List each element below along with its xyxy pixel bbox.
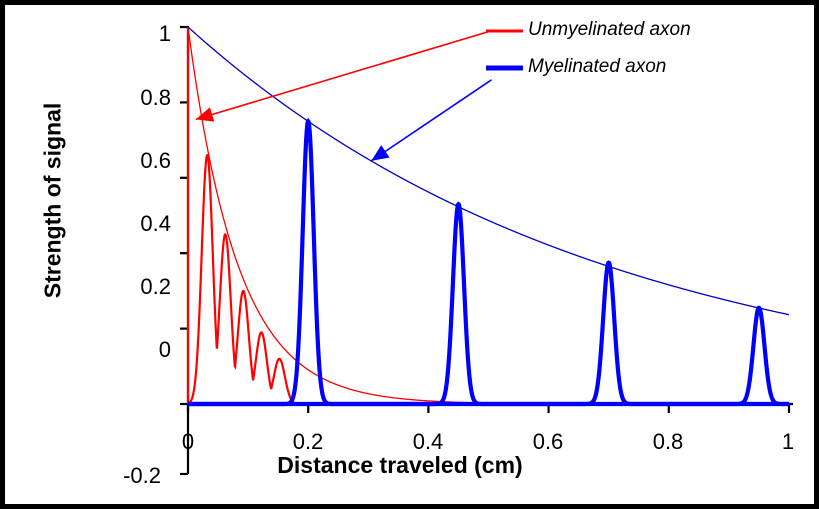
- axis-lines: [180, 26, 793, 474]
- y-tick-label-0p4: 0.4: [111, 211, 171, 237]
- series-myelinated-axon: [188, 27, 789, 404]
- x-tick-label-0p4: 0.4: [398, 429, 458, 455]
- y-tick-label-neg0p2: -0.2: [101, 463, 161, 489]
- x-tick-label-0p8: 0.8: [638, 429, 698, 455]
- chart-canvas: Strength of signal Distance traveled (cm…: [5, 5, 814, 504]
- y-tick-label-0: 0: [111, 337, 171, 363]
- y-tick-label-1: 1: [111, 21, 171, 47]
- myelinated-callout-arrow-head: [371, 145, 389, 161]
- series-unmyelinated-axon: [188, 27, 789, 404]
- myelinated-callout-arrow-line: [371, 80, 491, 161]
- y-tick-label-0p2: 0.2: [111, 274, 171, 300]
- unmyelinated-spike-train: [188, 155, 789, 404]
- legend-label-myelinated: Myelinated axon: [528, 56, 666, 78]
- legend-label-unmyelinated: Unmyelinated axon: [528, 19, 691, 41]
- y-tick-label-0p6: 0.6: [111, 148, 171, 174]
- unmyelinated-callout-arrow-line: [196, 31, 492, 120]
- legend-swatches: [486, 31, 523, 68]
- chart-figure: Strength of signal Distance traveled (cm…: [0, 0, 819, 509]
- callout-arrows: [196, 31, 492, 161]
- x-axis-title: Distance traveled (cm): [190, 452, 610, 479]
- y-tick-label-0p8: 0.8: [111, 85, 171, 111]
- unmyelinated-envelope-curve: [188, 27, 789, 404]
- x-tick-label-0: 0: [158, 429, 218, 455]
- y-axis-title: Strength of signal: [40, 101, 67, 301]
- unmyelinated-callout-arrow-head: [196, 107, 214, 121]
- x-tick-label-1: 1: [758, 429, 818, 455]
- x-tick-label-0p6: 0.6: [518, 429, 578, 455]
- x-tick-label-0p2: 0.2: [278, 429, 338, 455]
